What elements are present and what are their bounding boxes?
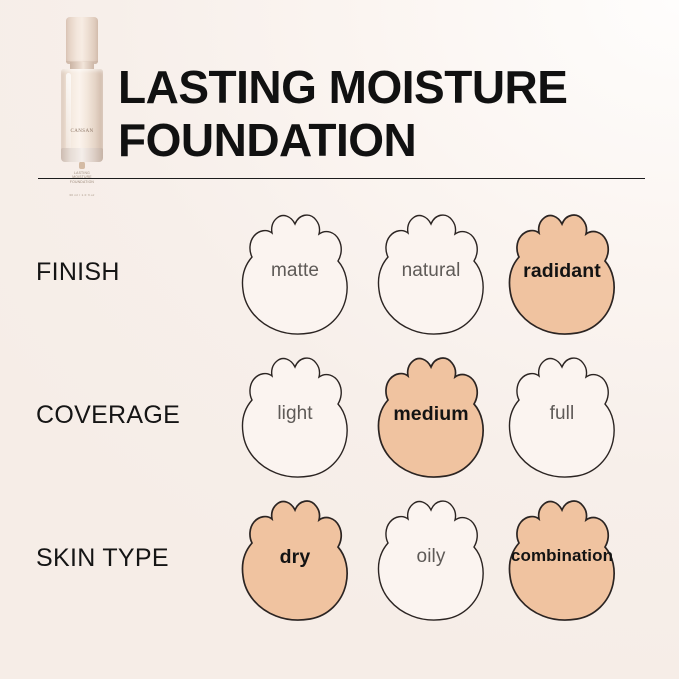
option-label-radidant: radidant: [497, 260, 627, 283]
option-label-light: light: [230, 403, 360, 425]
header: CANSAN LASTING MOISTURE FOUNDATION 30 ml…: [0, 0, 679, 178]
spec-row-skin-type: SKIN TYPE dry oily combination: [0, 494, 679, 634]
option-blob-light[interactable]: light: [236, 351, 354, 479]
title-line-1: LASTING MOISTURE: [118, 61, 658, 114]
bottle-body: CANSAN LASTING MOISTURE FOUNDATION 30 ml…: [61, 69, 103, 159]
option-label-combination: combination: [497, 546, 627, 566]
option-blob-combination[interactable]: combination: [503, 494, 621, 622]
header-divider: [38, 178, 645, 179]
option-blob-dry[interactable]: dry: [236, 494, 354, 622]
option-label-oily: oily: [366, 546, 496, 568]
bottle-cap: [66, 17, 98, 64]
option-blob-radidant[interactable]: radidant: [503, 208, 621, 336]
title-line-2: FOUNDATION: [118, 114, 658, 167]
option-label-medium: medium: [366, 403, 496, 426]
option-blob-full[interactable]: full: [503, 351, 621, 479]
spec-row-coverage: COVERAGE light medium full: [0, 351, 679, 491]
bottle-label-line-1: LASTING: [74, 171, 90, 175]
option-blob-oily[interactable]: oily: [372, 494, 490, 622]
spec-grid: FINISH matte natural radidant: [0, 188, 679, 668]
option-blob-medium[interactable]: medium: [372, 351, 490, 479]
page-title: LASTING MOISTURE FOUNDATION: [118, 61, 658, 167]
option-label-natural: natural: [366, 260, 496, 282]
bottle-label-line-3: FOUNDATION: [70, 180, 94, 184]
bottle-base: [61, 148, 103, 162]
bottle-emblem-icon: [79, 161, 85, 169]
option-label-matte: matte: [230, 260, 360, 282]
option-blob-matte[interactable]: matte: [236, 208, 354, 336]
spec-row-label-skin-type: SKIN TYPE: [36, 544, 246, 573]
option-label-dry: dry: [230, 546, 360, 569]
spec-row-label-finish: FINISH: [36, 258, 246, 287]
product-bottle-image: CANSAN LASTING MOISTURE FOUNDATION 30 ml…: [57, 17, 107, 165]
bottle-brand-text: CANSAN: [61, 129, 103, 134]
option-label-full: full: [497, 403, 627, 425]
spec-row-finish: FINISH matte natural radidant: [0, 208, 679, 348]
option-blob-natural[interactable]: natural: [372, 208, 490, 336]
spec-row-label-coverage: COVERAGE: [36, 401, 246, 430]
product-infographic: CANSAN LASTING MOISTURE FOUNDATION 30 ml…: [0, 0, 679, 679]
